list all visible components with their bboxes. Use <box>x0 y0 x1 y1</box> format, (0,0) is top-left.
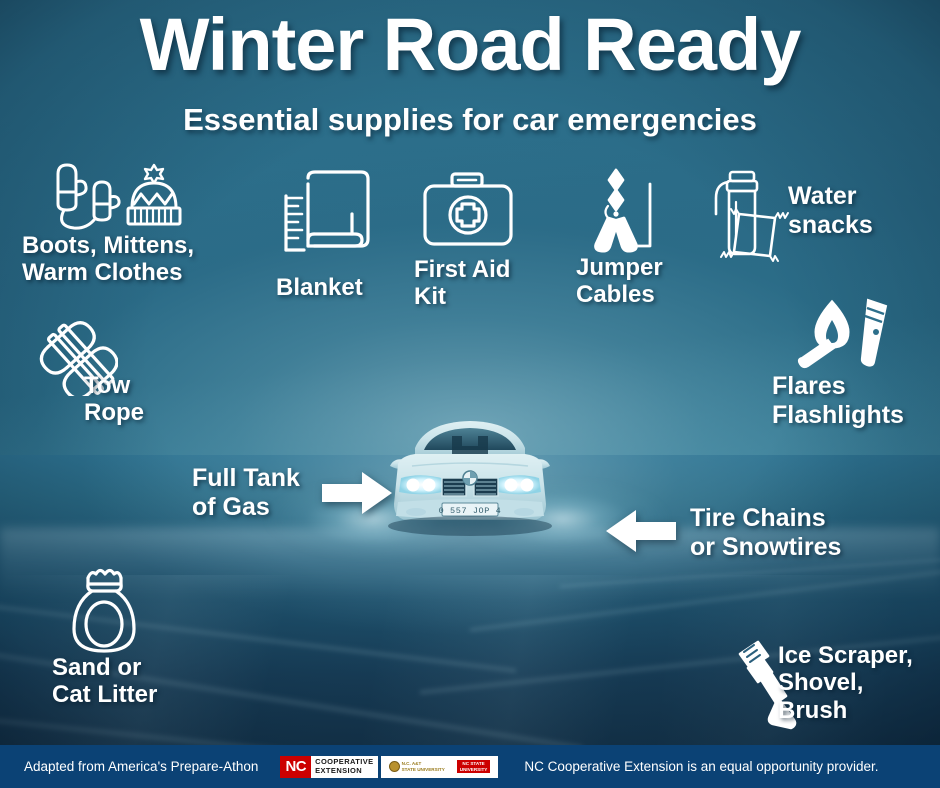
car-illustration: 0 557 JOP 4 <box>368 408 573 553</box>
footer-credit: Adapted from America's Prepare-Athon <box>24 759 258 774</box>
page-title: Winter Road Ready <box>0 8 940 82</box>
nc-at-seal-icon <box>389 761 400 772</box>
water-bottle-and-snack-icon <box>708 168 790 273</box>
flare-and-flashlight-icon <box>796 296 896 381</box>
footer-bar: Adapted from America's Prepare-Athon NC … <box>0 745 940 788</box>
infographic-poster: 0 557 JOP 4 Winter Road Ready Essential … <box>0 0 940 788</box>
nc-at-line2: STATE UNIVERSITY <box>402 767 445 772</box>
label-water-snacks: Water snacks <box>788 182 873 239</box>
arrow-right-icon <box>322 472 392 519</box>
label-ice-scraper: Ice Scraper, Shovel, Brush <box>778 642 913 724</box>
label-blanket: Blanket <box>276 274 363 301</box>
nc-cooperative-extension-logo: NC COOPERATIVE EXTENSION N.C. A&T STATE … <box>280 756 498 778</box>
label-sand-cat-litter: Sand or Cat Litter <box>52 654 157 709</box>
footer-notice: NC Cooperative Extension is an equal opp… <box>524 759 878 774</box>
license-plate-text: 0 557 JOP 4 <box>439 506 502 516</box>
first-aid-kit-icon <box>420 170 516 257</box>
sack-bag-icon <box>62 566 146 663</box>
label-full-tank-of-gas: Full Tank of Gas <box>192 464 300 521</box>
label-boots-mittens: Boots, Mittens, Warm Clothes <box>22 232 194 287</box>
folded-blanket-icon <box>282 168 382 265</box>
nc-at-line1: N.C. A&T <box>402 761 422 766</box>
logo-line-extension: EXTENSION <box>315 767 373 776</box>
arrow-left-icon <box>606 510 676 557</box>
nc-state-logo: NC STATE UNIVERSITY <box>457 760 491 773</box>
label-tow-rope: Tow Rope <box>84 372 144 427</box>
label-jumper-cables: Jumper Cables <box>576 254 663 309</box>
nc-at-logo: N.C. A&T STATE UNIVERSITY <box>389 761 445 772</box>
logo-nc-mark: NC <box>280 756 311 778</box>
label-flares-flashlights: Flares Flashlights <box>772 372 904 429</box>
partner-university-logos: N.C. A&T STATE UNIVERSITY NC STATE UNIVE… <box>381 756 499 778</box>
jumper-cable-clamp-icon <box>588 168 674 265</box>
label-tire-chains: Tire Chains or Snowtires <box>690 504 841 561</box>
logo-extension-wordmark: COOPERATIVE EXTENSION <box>311 756 377 778</box>
nc-at-wordmark: N.C. A&T STATE UNIVERSITY <box>402 761 445 772</box>
mittens-and-winter-hat-icon <box>42 160 192 243</box>
nc-state-line2: UNIVERSITY <box>460 767 488 772</box>
page-subtitle: Essential supplies for car emergencies <box>0 104 940 135</box>
label-first-aid-kit: First Aid Kit <box>414 256 510 311</box>
nc-state-line1: NC STATE <box>462 761 484 766</box>
